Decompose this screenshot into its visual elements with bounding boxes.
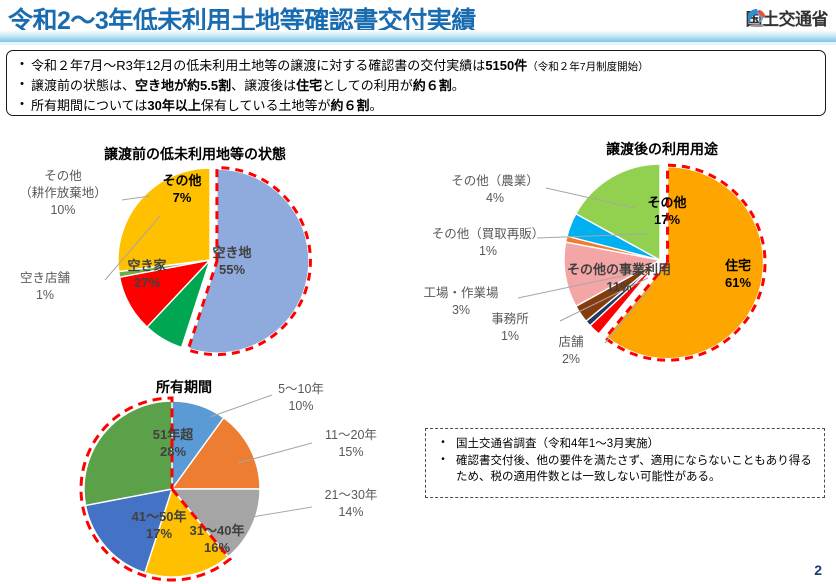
label-after-other-agri-name: その他（農業） <box>451 174 539 188</box>
label-period-51-over-value: 28% <box>160 444 186 459</box>
label-after-store-value: 2% <box>562 352 580 366</box>
label-after-housing-value: 61% <box>725 275 751 290</box>
summary-3-pre: 所有期間については <box>31 98 147 113</box>
summary-3-post: 。 <box>369 98 382 113</box>
summary-3-strong2: 約６割 <box>330 98 369 113</box>
label-period-31-40-name: 31～40年 <box>190 523 245 538</box>
label-before-vacant-house: 空き家 27% <box>112 258 182 292</box>
label-after-other-resale-value: 1% <box>479 244 497 258</box>
label-after-other-business-name: その他の事業利用 <box>567 262 671 277</box>
summary-1-pre: 令和２年7月～R3年12月の低未利用土地等の譲渡に対する確認書の交付実績は <box>31 58 485 73</box>
summary-2-post: 。 <box>452 78 465 93</box>
label-period-21-30-value: 14% <box>338 505 363 519</box>
summary-3-strong: 30年以上 <box>147 98 200 113</box>
page-header: 令和2～3年低未利用土地等確認書交付実績 国土交通省 <box>0 0 836 45</box>
label-after-other-resale-name: その他（買取再販） <box>432 227 545 241</box>
summary-3-mid: 保有している土地等が <box>201 98 331 113</box>
label-before-other-name: その他 <box>162 173 201 188</box>
summary-2-strong: 空き地が約5.5割 <box>135 78 231 93</box>
summary-2-strong3: 約６割 <box>413 78 452 93</box>
label-period-11-20: 11～20年 15% <box>305 427 397 461</box>
footnote-line-2: • 確認書交付後、他の要件を満たさず、適用にならないこともあり得るため、税の適用… <box>430 453 820 486</box>
summary-2-mid: 、譲渡後は <box>231 78 296 93</box>
label-before-vacant-shop: 空き店舗 1% <box>2 270 88 304</box>
label-before-other-farmland-value: 10% <box>50 203 75 217</box>
label-after-office-value: 1% <box>501 329 519 343</box>
mlit-swirl-logo-icon <box>746 7 768 29</box>
label-after-other-agri-value: 4% <box>486 191 504 205</box>
label-period-11-20-value: 15% <box>338 445 363 459</box>
summary-1-note: （令和２年7月制度開始） <box>527 61 648 73</box>
header-gradient-band <box>0 30 836 42</box>
label-before-vacant-land: 空き地 55% <box>197 245 267 279</box>
label-period-5-10-name: 5～10年 <box>278 382 324 396</box>
label-period-31-40: 31～40年 16% <box>176 523 258 557</box>
label-before-vacant-house-name: 空き家 <box>127 258 166 273</box>
label-before-vacant-land-name: 空き地 <box>212 245 251 260</box>
label-before-other-farmland-name-1: その他 <box>44 169 82 183</box>
label-period-51-over: 51年超 28% <box>138 427 208 461</box>
label-after-store: 店舗 2% <box>545 334 597 368</box>
label-before-other: その他 7% <box>152 173 212 207</box>
summary-2-mid2: としての利用が <box>322 78 413 93</box>
bullet-marker-icon: • <box>430 436 456 451</box>
label-after-other-resale: その他（買取再販） 1% <box>418 226 558 260</box>
bullet-marker-icon: • <box>13 76 31 93</box>
page-number: 2 <box>814 562 822 578</box>
summary-bullet-3: • 所有期間については30年以上保有している土地等が約６割。 <box>13 96 819 116</box>
label-period-51-over-name: 51年超 <box>153 427 193 442</box>
label-before-other-farmland: その他 （耕作放棄地） 10% <box>8 168 118 219</box>
label-after-other-value: 17% <box>654 212 680 227</box>
label-after-factory-value: 3% <box>452 303 470 317</box>
label-after-store-name: 店舗 <box>558 335 583 349</box>
summary-1-strong: 5150件 <box>485 58 527 73</box>
label-after-other: その他 17% <box>637 195 697 229</box>
footnote-line-1: • 国土交通省調査（令和4年1～3月実施） <box>430 436 820 453</box>
label-after-office: 事務所 1% <box>478 311 542 345</box>
label-after-factory-name: 工場・作業場 <box>423 286 498 300</box>
label-after-other-business-value: 11% <box>606 279 631 294</box>
chart-title-holding-period: 所有期間 <box>156 377 212 397</box>
label-period-41-50-name: 41～50年 <box>132 509 187 524</box>
label-before-vacant-land-value: 55% <box>219 262 245 277</box>
footnote-line-2-text-a: 確認書交付後、他の要件を満たさず、適用にならないこともあり得 <box>456 455 800 467</box>
label-period-5-10-value: 10% <box>288 399 313 413</box>
label-after-other-business: その他の事業利用 11% <box>544 262 694 296</box>
bullet-marker-icon: • <box>13 96 31 113</box>
header-gradient-band-lower <box>0 42 836 45</box>
summary-2-pre: 譲渡前の状態は、 <box>31 78 135 93</box>
label-period-21-30: 21～30年 14% <box>305 487 397 521</box>
label-period-11-20-name: 11～20年 <box>325 428 377 442</box>
summary-bullet-1: • 令和２年7月～R3年12月の低未利用土地等の譲渡に対する確認書の交付実績は5… <box>13 56 819 76</box>
label-before-vacant-shop-name: 空き店舗 <box>20 271 70 285</box>
bullet-marker-icon: • <box>430 453 456 468</box>
label-before-vacant-house-value: 27% <box>134 275 160 290</box>
label-after-other-name: その他 <box>647 195 686 210</box>
label-after-other-agri: その他（農業） 4% <box>440 173 550 207</box>
label-before-other-farmland-name-2: （耕作放棄地） <box>19 186 107 200</box>
footnote-line-1-text: 国土交通省調査（令和4年1～3月実施） <box>456 436 667 453</box>
ministry-logo: 国土交通省 <box>746 5 829 30</box>
label-period-31-40-value: 16% <box>204 540 230 555</box>
label-after-office-name: 事務所 <box>491 312 529 326</box>
label-after-housing-name: 住宅 <box>725 258 751 273</box>
summary-bullet-2: • 譲渡前の状態は、空き地が約5.5割、譲渡後は住宅としての利用が約６割。 <box>13 76 819 96</box>
footnote-box: • 国土交通省調査（令和4年1～3月実施） • 確認書交付後、他の要件を満たさず… <box>425 428 825 498</box>
label-before-vacant-shop-value: 1% <box>36 288 54 302</box>
summary-box: • 令和２年7月～R3年12月の低未利用土地等の譲渡に対する確認書の交付実績は5… <box>6 50 826 116</box>
label-before-other-value: 7% <box>173 190 192 205</box>
chart-title-after-use: 譲渡後の利用用途 <box>606 139 718 159</box>
label-period-5-10: 5～10年 10% <box>258 381 344 415</box>
bullet-marker-icon: • <box>13 56 31 73</box>
summary-2-strong2: 住宅 <box>296 78 322 93</box>
label-after-housing: 住宅 61% <box>707 258 769 292</box>
label-period-21-30-name: 21～30年 <box>325 488 378 502</box>
label-period-41-50-value: 17% <box>146 526 172 541</box>
